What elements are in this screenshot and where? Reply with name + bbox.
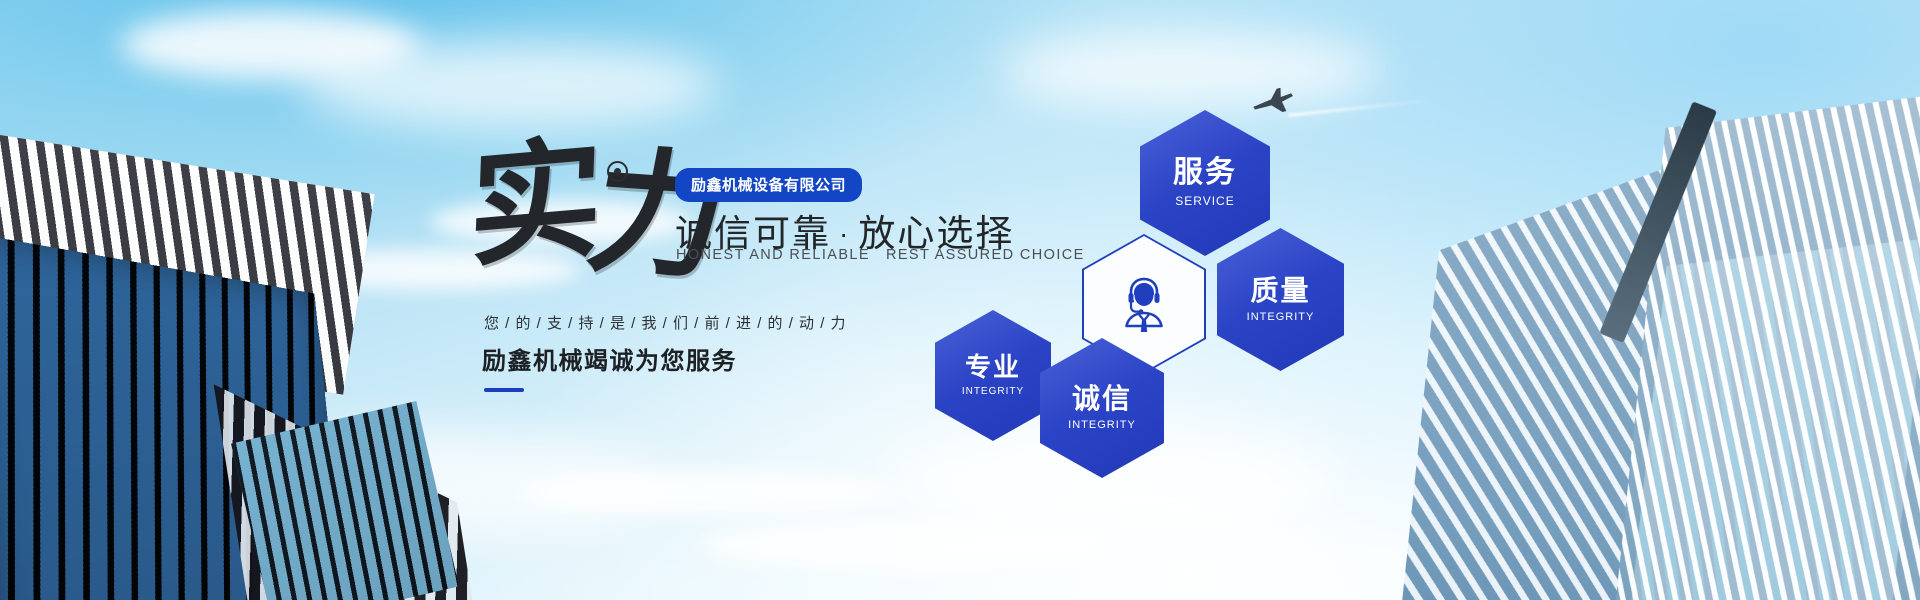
hex-quality[interactable]: 质量 INTEGRITY [1217, 228, 1344, 371]
hexagon-cluster: 服务 SERVICE 质量 INTEGRITY [1120, 110, 1540, 510]
hex-service-label-en: SERVICE [1175, 194, 1234, 208]
slogan-en: HONEST AND RELIABLEREST ASSURED CHOICE [676, 247, 1085, 263]
slogan-en-part2: REST ASSURED CHOICE [886, 247, 1085, 263]
hex-trust-label-en: INTEGRITY [1068, 419, 1136, 431]
company-hero-banner: 实力 励鑫机械设备有限公司 诚信可靠·放心选择 HONEST AND RELIA… [0, 0, 1920, 600]
tagline-slashed: 您 / 的 / 支 / 持 / 是 / 我 / 们 / 前 / 进 / 的 / … [484, 312, 847, 333]
hex-quality-label-en: INTEGRITY [1247, 311, 1315, 323]
slogan-en-part1: HONEST AND RELIABLE [676, 247, 870, 263]
hex-trust-label-cn: 诚信 [1072, 385, 1132, 413]
hex-professional-label-cn: 专业 [965, 354, 1021, 380]
calligraphy-char-1: 实 [467, 133, 599, 275]
slogan-separator: · [839, 218, 850, 249]
circle-dot-icon [607, 161, 628, 182]
hex-quality-label-cn: 质量 [1250, 277, 1310, 305]
cloud [1000, 30, 1380, 110]
brand-badge: 励鑫机械设备有限公司 [675, 168, 862, 202]
tagline-main: 励鑫机械竭诚为您服务 [482, 341, 737, 376]
accent-underline [484, 388, 524, 392]
hex-service-label-cn: 服务 [1173, 158, 1237, 188]
cloud [520, 470, 900, 516]
building-right-glass [1625, 238, 1920, 600]
hex-professional-label-en: INTEGRITY [962, 386, 1024, 397]
customer-service-agent-icon [1115, 273, 1173, 335]
